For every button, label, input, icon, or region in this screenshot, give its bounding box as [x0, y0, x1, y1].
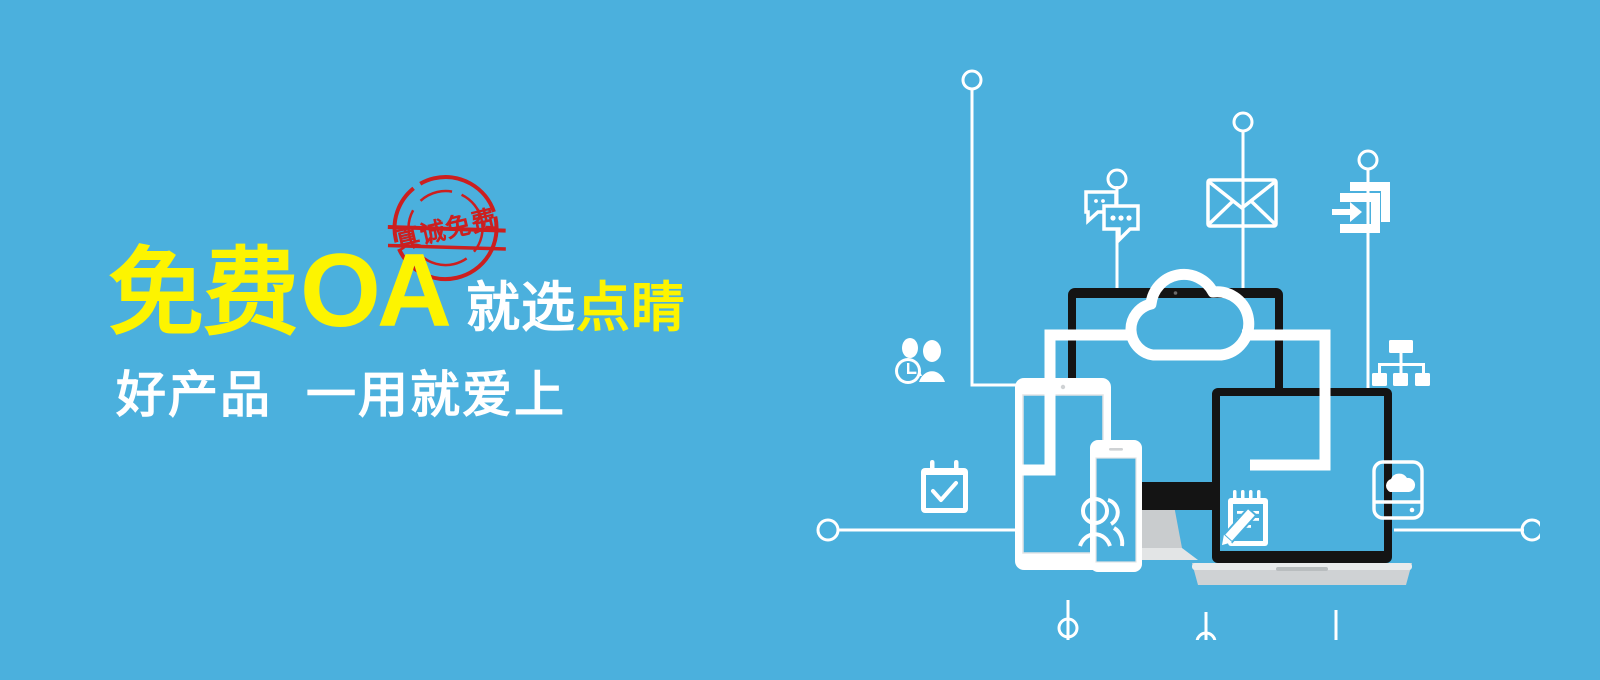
calendar-check-icon: [921, 460, 968, 513]
headline-sub-brand: 点睛: [576, 260, 686, 356]
device-cloud-illustration: [780, 40, 1540, 640]
chat-bubbles-icon: [1086, 192, 1138, 240]
connector-node: [963, 71, 981, 89]
copy-block: 真诚免费 免费 OA 就选 点睛 好产品一用就爱上: [108, 175, 748, 465]
headline: 免费 OA 就选 点睛: [108, 243, 686, 356]
headline-main-free: 免费: [108, 245, 298, 341]
promo-banner: 真诚免费 免费 OA 就选 点睛 好产品一用就爱上: [0, 0, 1600, 680]
tagline-part2: 一用就爱上: [306, 366, 566, 424]
connector-node: [1359, 151, 1377, 169]
headline-main-oa: OA: [300, 243, 448, 339]
connector-node: [1522, 520, 1540, 540]
headline-sub-choose: 就选: [466, 260, 576, 356]
laptop: [1192, 388, 1412, 585]
login-arrow-icon: [1332, 182, 1390, 233]
connector-node: [818, 520, 838, 540]
tagline: 好产品一用就爱上: [116, 367, 566, 423]
connector-node: [1234, 113, 1252, 131]
connector-node: [1108, 170, 1126, 188]
tagline-part1: 好产品: [116, 366, 272, 424]
org-chart-icon: [1372, 340, 1430, 386]
users-clock-icon: [895, 338, 945, 384]
